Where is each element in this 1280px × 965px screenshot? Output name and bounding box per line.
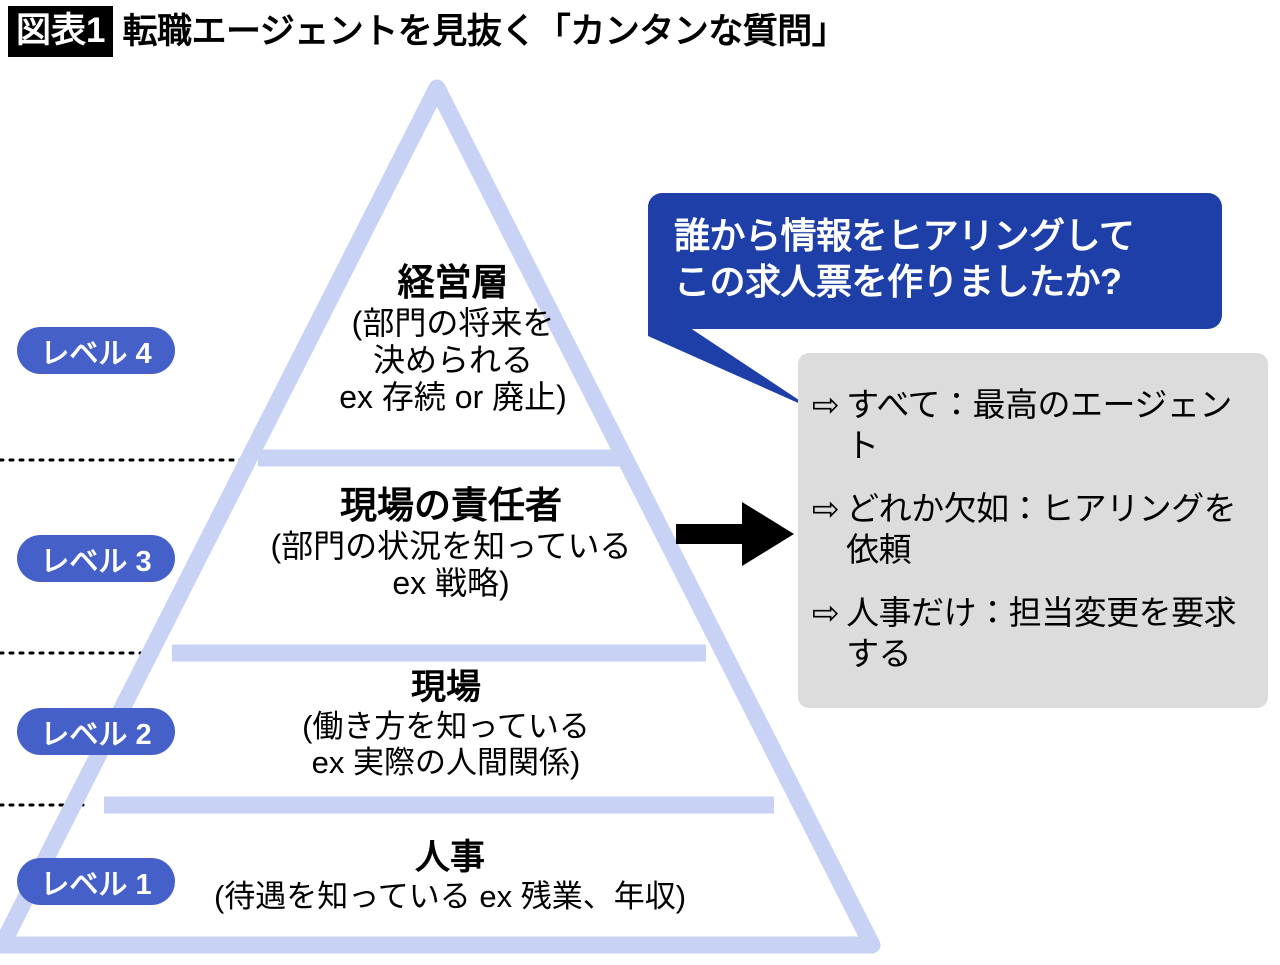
level-2-sub-line-2: ex 実際の人間関係) [186, 745, 706, 781]
level-badge-3: レベル 3 [17, 535, 175, 582]
pyramid-level-1-text: 人事 (待遇を知っている ex 残業、年収) [140, 838, 760, 915]
level-4-title: 経営層 [268, 262, 638, 305]
question-speech-bubble: 誰から情報をヒアリングして この求人票を作りましたか? [648, 193, 1222, 329]
level-3-sub-line-1: (部門の状況を知っている [216, 528, 686, 565]
outcome-item-1: ⇨ すべて：最高のエージェント [812, 385, 1254, 467]
outcome-item-3: ⇨ 人事だけ：担当変更を要求する [812, 593, 1254, 675]
hollow-right-arrow-icon: ⇨ [812, 596, 839, 629]
outcome-item-3-text: 人事だけ：担当変更を要求する [846, 593, 1254, 675]
level-badge-2: レベル 2 [17, 708, 175, 755]
level-badge-4: レベル 4 [17, 327, 175, 374]
level-2-title: 現場 [186, 668, 706, 709]
outcome-panel: ⇨ すべて：最高のエージェント ⇨ どれか欠如：ヒアリングを依頼 ⇨ 人事だけ：… [798, 353, 1268, 708]
level-4-sub-line-1: (部門の将来を [268, 305, 638, 342]
pyramid-level-3-text: 現場の責任者 (部門の状況を知っている ex 戦略) [216, 485, 686, 602]
figure-number-tag: 図表1 [8, 6, 113, 57]
page-title: 図表1 転職エージェントを見抜く「カンタンな質問」 [8, 6, 846, 56]
hollow-right-arrow-icon: ⇨ [812, 388, 839, 421]
pyramid-level-4-text: 経営層 (部門の将来を 決められる ex 存続 or 廃止) [268, 262, 638, 416]
bubble-line-2: この求人票を作りましたか? [674, 259, 1222, 305]
outcome-item-2: ⇨ どれか欠如：ヒアリングを依頼 [812, 489, 1254, 571]
level-4-sub-line-3: ex 存続 or 廃止) [268, 379, 638, 416]
level-badge-1: レベル 1 [17, 858, 175, 905]
bubble-line-1: 誰から情報をヒアリングして [674, 213, 1222, 259]
right-arrow-icon [676, 498, 796, 570]
level-1-sub-line-1: (待遇を知っている ex 残業、年収) [140, 879, 760, 915]
infographic-canvas: 図表1 転職エージェントを見抜く「カンタンな質問」 経営層 (部門の将来を 決め… [0, 0, 1280, 965]
level-2-sub-line-1: (働き方を知っている [186, 709, 706, 745]
hollow-right-arrow-icon: ⇨ [812, 492, 839, 525]
page-title-text: 転職エージェントを見抜く「カンタンな質問」 [122, 14, 846, 49]
level-1-title: 人事 [140, 838, 760, 879]
level-4-sub-line-2: 決められる [268, 342, 638, 379]
level-3-sub-line-2: ex 戦略) [216, 565, 686, 602]
outcome-item-2-text: どれか欠如：ヒアリングを依頼 [846, 489, 1254, 571]
pyramid-level-2-text: 現場 (働き方を知っている ex 実際の人間関係) [186, 668, 706, 781]
level-3-title: 現場の責任者 [216, 485, 686, 528]
outcome-item-1-text: すべて：最高のエージェント [846, 385, 1254, 467]
